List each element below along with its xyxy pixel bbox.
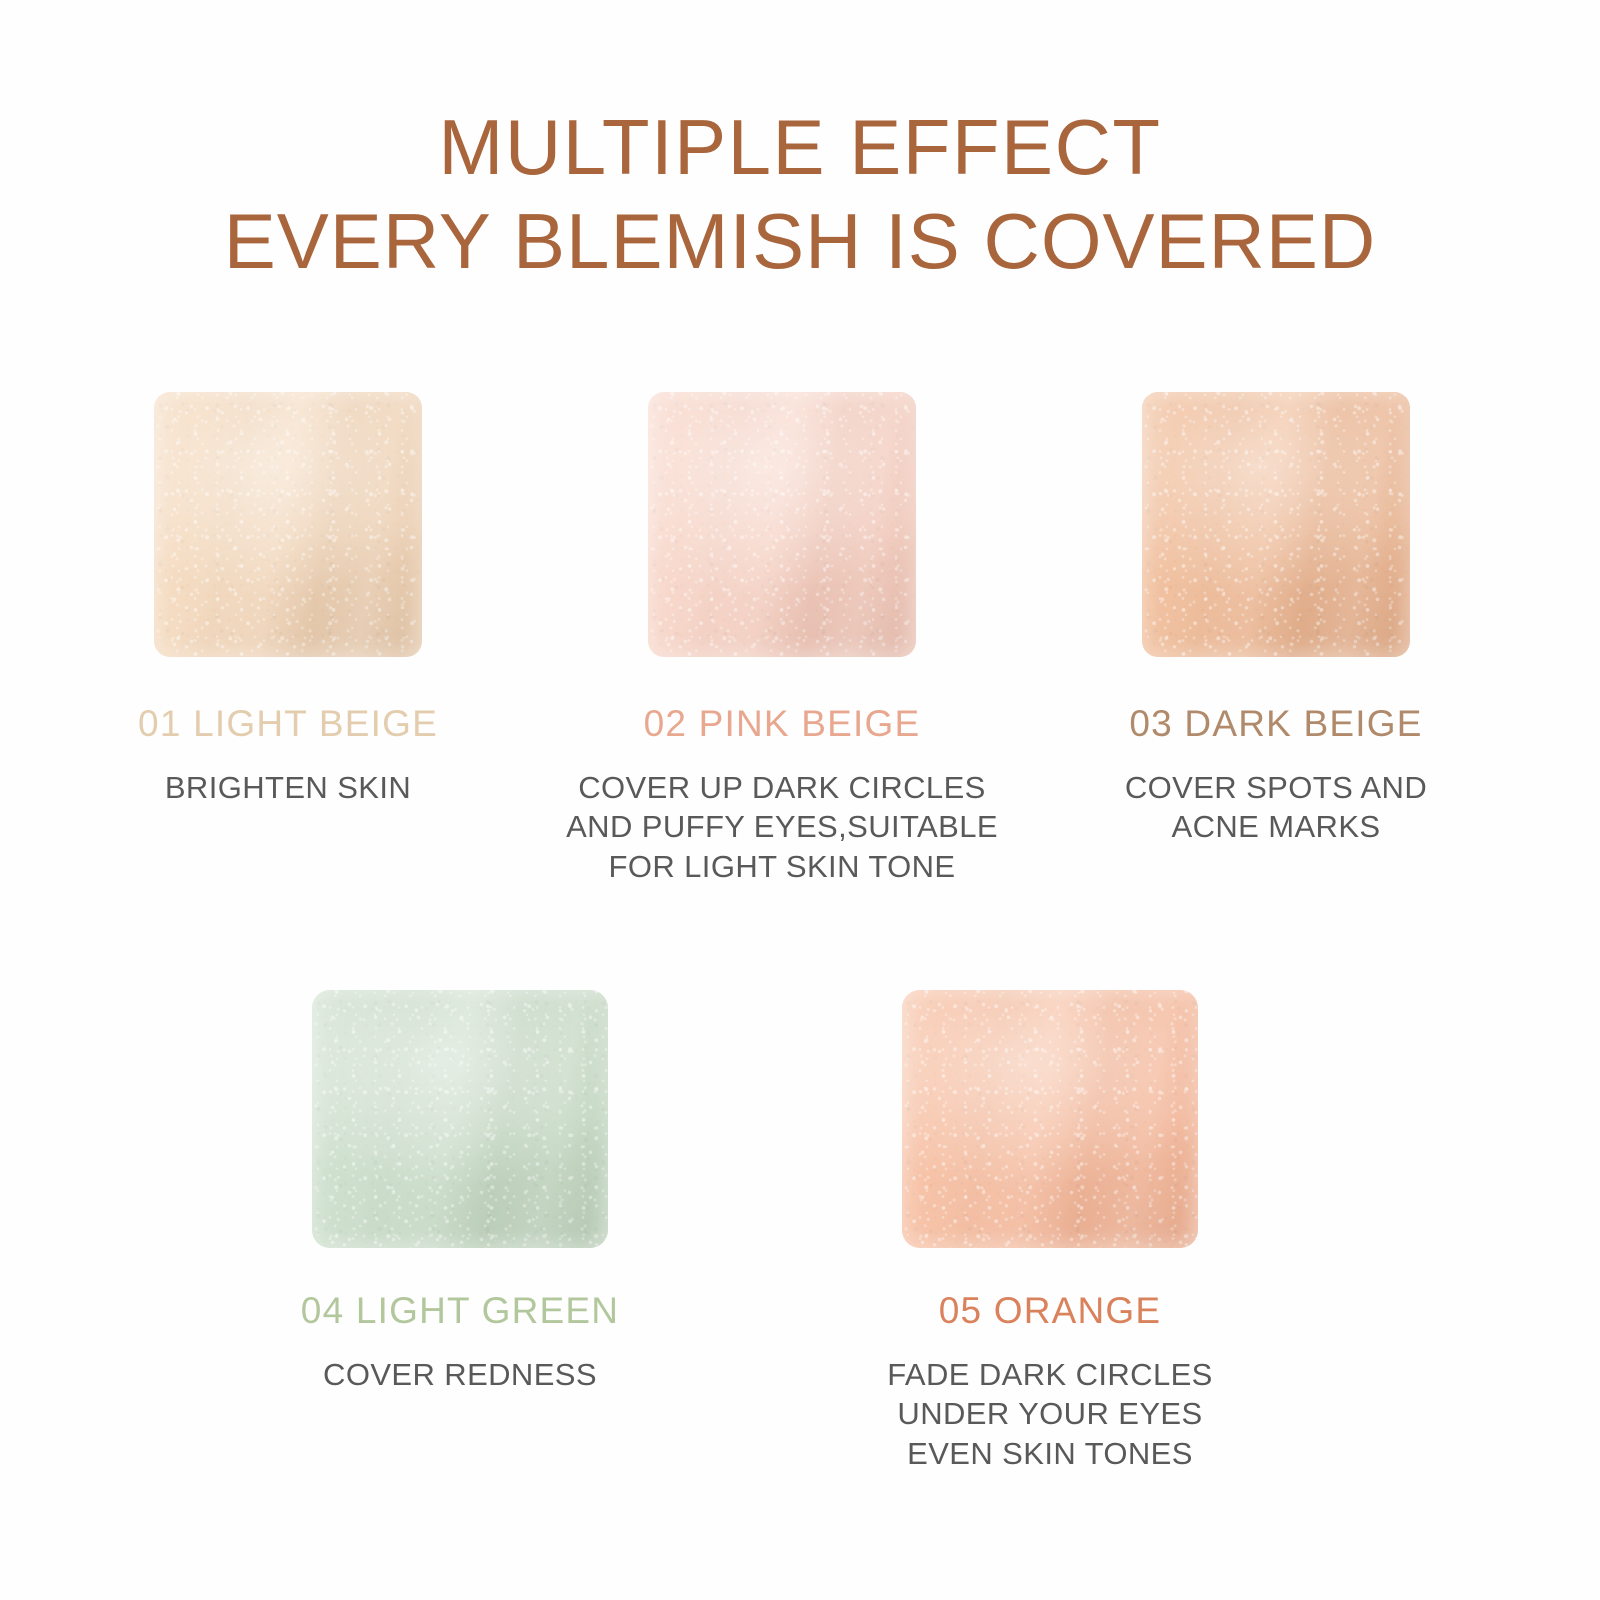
headline-line-1: MULTIPLE EFFECT <box>0 108 1600 188</box>
swatch-wrap-03 <box>1106 392 1446 657</box>
shade-card-02[interactable]: 02 PINK BEIGE COVER UP DARK CIRCLES AND … <box>612 392 952 886</box>
headline-line-2: EVERY BLEMISH IS COVERED <box>0 202 1600 282</box>
shade-description-line: FADE DARK CIRCLES <box>850 1355 1250 1394</box>
color-swatch-05[interactable] <box>902 990 1198 1248</box>
shade-description-line: COVER REDNESS <box>290 1355 630 1394</box>
swatch-edge-fade <box>648 392 916 657</box>
swatch-wrap-05 <box>880 990 1220 1248</box>
swatch-wrap-01 <box>118 392 458 657</box>
shade-name-02: 02 PINK BEIGE <box>612 705 952 742</box>
shade-description-line: ACNE MARKS <box>1076 807 1476 846</box>
product-shade-chart: MULTIPLE EFFECT EVERY BLEMISH IS COVERED… <box>0 0 1600 1600</box>
color-swatch-02[interactable] <box>648 392 916 657</box>
shade-description-line: BRIGHTEN SKIN <box>118 768 458 807</box>
swatch-edge-fade <box>312 990 608 1248</box>
shade-description-04: COVER REDNESS <box>290 1355 630 1394</box>
page-title: MULTIPLE EFFECT EVERY BLEMISH IS COVERED <box>0 108 1600 281</box>
shade-card-04[interactable]: 04 LIGHT GREEN COVER REDNESS <box>290 990 630 1473</box>
color-swatch-04[interactable] <box>312 990 608 1248</box>
shade-description-03: COVER SPOTS AND ACNE MARKS <box>1076 768 1476 847</box>
swatch-wrap-04 <box>290 990 630 1248</box>
color-swatch-03[interactable] <box>1142 392 1410 657</box>
shade-description-line: FOR LIGHT SKIN TONE <box>547 847 1017 886</box>
shade-description-05: FADE DARK CIRCLES UNDER YOUR EYES EVEN S… <box>850 1355 1250 1473</box>
shade-name-01: 01 LIGHT BEIGE <box>118 705 458 742</box>
shade-name-04: 04 LIGHT GREEN <box>290 1292 630 1329</box>
shade-name-05: 05 ORANGE <box>880 1292 1220 1329</box>
shade-description-line: COVER UP DARK CIRCLES <box>547 768 1017 807</box>
swatch-edge-fade <box>154 392 422 657</box>
shade-description-line: COVER SPOTS AND <box>1076 768 1476 807</box>
shade-row-top: 01 LIGHT BEIGE BRIGHTEN SKIN 02 PINK BEI… <box>0 392 1600 886</box>
shade-description-02: COVER UP DARK CIRCLES AND PUFFY EYES,SUI… <box>547 768 1017 886</box>
swatch-wrap-02 <box>612 392 952 657</box>
shade-row-bottom: 04 LIGHT GREEN COVER REDNESS 05 ORANGE F… <box>0 990 1600 1473</box>
swatch-edge-fade <box>1142 392 1410 657</box>
shade-card-05[interactable]: 05 ORANGE FADE DARK CIRCLES UNDER YOUR E… <box>880 990 1220 1473</box>
shade-description-01: BRIGHTEN SKIN <box>118 768 458 807</box>
shade-description-line: AND PUFFY EYES,SUITABLE <box>547 807 1017 846</box>
shade-description-line: UNDER YOUR EYES <box>850 1394 1250 1433</box>
color-swatch-01[interactable] <box>154 392 422 657</box>
shade-description-line: EVEN SKIN TONES <box>850 1434 1250 1473</box>
shade-card-03[interactable]: 03 DARK BEIGE COVER SPOTS AND ACNE MARKS <box>1106 392 1446 886</box>
shade-card-01[interactable]: 01 LIGHT BEIGE BRIGHTEN SKIN <box>118 392 458 886</box>
swatch-edge-fade <box>902 990 1198 1248</box>
shade-name-03: 03 DARK BEIGE <box>1106 705 1446 742</box>
